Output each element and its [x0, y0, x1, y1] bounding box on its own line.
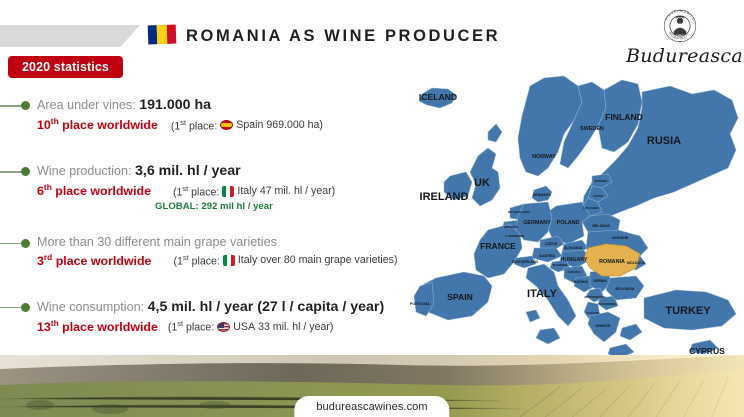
stat-label: Wine production: 3,6 mil. hl / year — [37, 162, 430, 181]
list-item: Wine production: 3,6 mil. hl / year 6th … — [0, 162, 430, 211]
first-place-note: (1st place: USA 33 mil. hl / year) — [168, 319, 334, 334]
stat-value: 3,6 mil. hl / year — [135, 163, 241, 179]
first-place-note: (1st place: Spain 969.000 ha) — [171, 118, 323, 133]
map-label-france: FRANCE — [480, 241, 516, 251]
first-country: Spain — [236, 119, 263, 131]
rank-text: 3rd place worldwide — [37, 252, 151, 268]
map-label-ireland: IRELAND — [420, 191, 469, 203]
rank-text: 6th place worldwide — [37, 182, 151, 198]
first-country: USA — [233, 321, 255, 333]
map-label-montenegro: MONTENEGRO — [584, 295, 606, 299]
bullet-dot-icon — [21, 303, 30, 312]
list-item: Area under vines: 191.000 ha 10th place … — [0, 96, 430, 132]
stat-label: Area under vines: 191.000 ha — [37, 96, 430, 115]
map-label-macedonia: MACEDONIA — [599, 302, 618, 306]
map-label-greece: GREECE — [595, 324, 611, 328]
map-label-austria: AUSTRIA — [539, 254, 555, 258]
status-badge: 2020 statistics — [8, 56, 123, 78]
first-value: 47 mil. hl / year) — [260, 185, 335, 197]
map-label-netherlands: NETHERLANDS — [508, 210, 530, 214]
map-label-moldova: MOLDOVA — [627, 261, 646, 265]
map-label-slovakia: SLOVAKIA — [564, 246, 583, 250]
statistics-list: Area under vines: 191.000 ha 10th place … — [0, 96, 430, 342]
stat-label: More than 30 different main grape variet… — [37, 234, 430, 251]
bullet-dot-icon — [21, 239, 30, 248]
first-value: 33 mil. hl / year) — [258, 321, 333, 333]
list-item: More than 30 different main grape variet… — [0, 234, 430, 268]
bullet-dot-icon — [21, 101, 30, 110]
global-note: GLOBAL: 292 mil hl / year — [155, 201, 430, 212]
romania-flag-icon — [148, 25, 177, 45]
map-label-uk: UK — [474, 177, 490, 189]
map-label-belgium: BELGIUM — [504, 225, 518, 229]
map-label-italy: ITALY — [527, 288, 558, 300]
spain-flag-icon — [220, 120, 233, 130]
stat-rank-row: 10th place worldwide (1st place: Spain 9… — [37, 116, 430, 132]
vineyard-photo: budureascawines.com — [0, 355, 744, 417]
map-label-bosnia: BOSNIA — [574, 280, 588, 284]
map-label-spain: SPAIN — [447, 292, 473, 302]
map-label-belarus: BELARUS — [592, 224, 610, 228]
infographic-page: 2020 statistics ROMANIA AS WINE PRODUCER… — [0, 0, 744, 417]
europe-map: ICELAND UK IRELAND NORWAY SWEDEN FINLAND… — [392, 72, 744, 362]
map-label-turkey: TURKEY — [665, 305, 711, 317]
map-label-finland: FINLAND — [605, 112, 643, 122]
map-label-bulgaria: BULGARIA — [616, 287, 635, 291]
first-place-note: (1st place: Italy over 80 main grape var… — [173, 253, 397, 268]
gray-banner-decoration — [0, 25, 140, 47]
brand-logo: VINURI NOBILE ROMANESTI Budureasca — [626, 4, 734, 68]
stat-value: 191.000 ha — [139, 97, 211, 113]
map-label-croatia: CROATIA — [568, 270, 582, 274]
page-title: ROMANIA AS WINE PRODUCER — [186, 27, 500, 46]
map-label-lithuania: LITHUANIA — [583, 206, 599, 210]
map-label-norway: NORWAY — [532, 154, 556, 160]
map-label-latvia: LATVIA — [593, 194, 604, 198]
stat-value: 4,5 mil. hl / year (27 l / capita / year… — [148, 299, 385, 315]
italy-flag-icon — [222, 186, 234, 197]
map-label-rusia: RUSIA — [647, 135, 681, 147]
first-place-note: (1st place: Italy 47 mil. hl / year) — [173, 184, 335, 199]
map-label-serbia: SERBIA — [593, 279, 607, 283]
map-label-switzerland: SWITZERLAND — [512, 260, 539, 264]
first-value: 969.000 ha) — [266, 119, 323, 131]
brand-wordmark: Budureasca — [626, 45, 734, 67]
map-label-poland: POLAND — [557, 220, 580, 226]
italy-flag-icon — [223, 255, 235, 266]
winery-emblem-icon: VINURI NOBILE ROMANESTI — [658, 4, 702, 48]
first-value: over 80 main grape varieties) — [260, 254, 397, 266]
footer-url[interactable]: budureascawines.com — [294, 396, 449, 417]
map-label-luxemburg: LUXEMBURG — [506, 234, 525, 238]
stat-rank-row: 3rd place worldwide (1st place: Italy ov… — [37, 252, 430, 268]
map-label-iceland: ICELAND — [419, 92, 457, 102]
list-item: Wine consumption: 4,5 mil. hl / year (27… — [0, 298, 430, 334]
rank-text: 13th place worldwide — [37, 318, 158, 334]
map-label-estonia: ESTONIA — [595, 179, 609, 183]
stat-rank-row: 6th place worldwide (1st place: Italy 47… — [37, 182, 430, 198]
map-label-albania: ALBANIA — [586, 311, 600, 315]
map-label-czech: CZECH — [545, 242, 558, 246]
map-label-portugal: PORTUGAL — [410, 302, 431, 306]
map-label-slovenia: SLOVENIA — [553, 263, 569, 267]
rank-text: 10th place worldwide — [37, 116, 158, 132]
map-label-romania: ROMANIA — [599, 259, 625, 265]
first-country: Italy — [237, 185, 256, 197]
map-label-sweden: SWEDEN — [580, 126, 604, 132]
stat-label: Wine consumption: 4,5 mil. hl / year (27… — [37, 298, 430, 317]
first-country: Italy — [238, 254, 257, 266]
stat-rank-row: 13th place worldwide (1st place: USA 33 … — [37, 318, 430, 334]
map-label-denmark: DENMARK — [533, 193, 552, 197]
map-label-germany: GERMANY — [523, 220, 551, 226]
map-label-ukraine: UKRAINE — [612, 236, 629, 240]
usa-flag-icon — [217, 322, 230, 332]
